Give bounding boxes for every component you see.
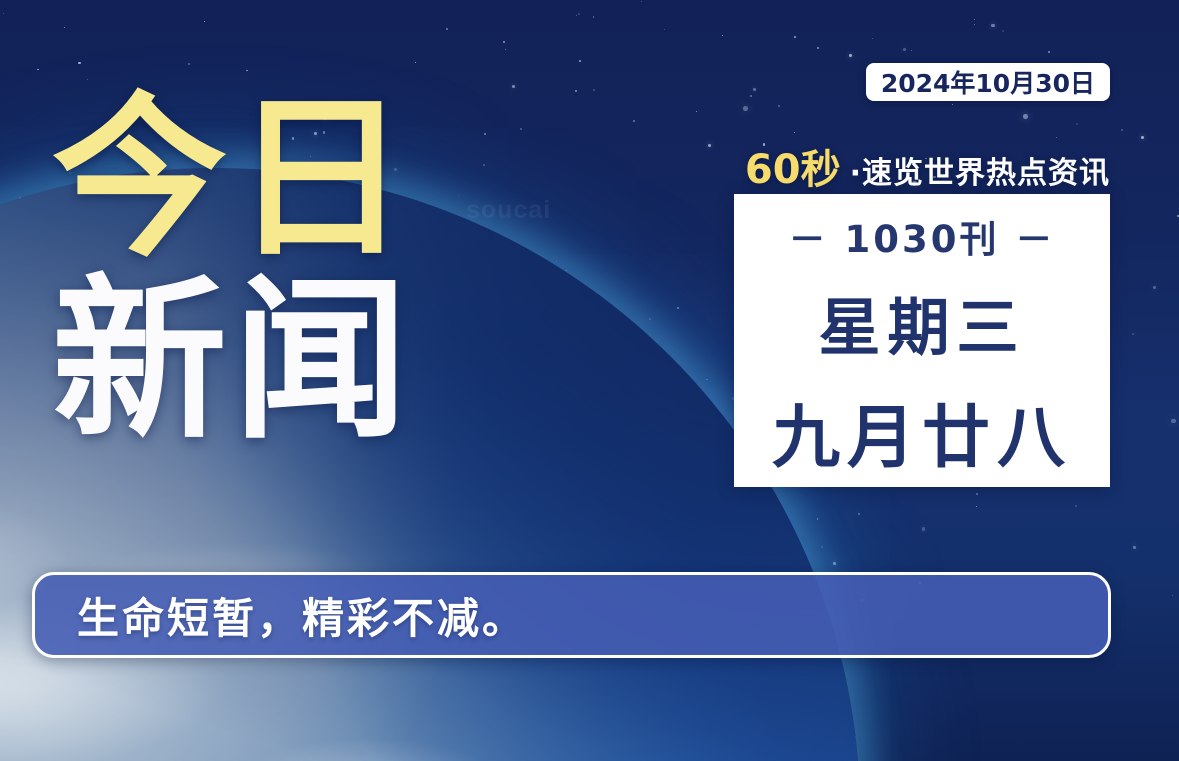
- star-dot: [743, 106, 748, 111]
- star-dot: [1002, 30, 1004, 32]
- star-dot: [974, 19, 975, 20]
- star-dot: [37, 69, 38, 70]
- star-dot: [1023, 114, 1028, 119]
- star-dot: [677, 307, 679, 309]
- star-dot: [1132, 333, 1134, 335]
- star-dot: [1172, 595, 1173, 596]
- star-dot: [778, 105, 780, 107]
- star-dot: [753, 88, 756, 91]
- star-dot: [708, 144, 711, 147]
- star-dot: [458, 195, 459, 196]
- subtitle-duration: 60秒: [745, 137, 841, 195]
- star-dot: [991, 24, 994, 27]
- star-dot: [849, 54, 852, 57]
- issue-number: － 1030刊 －: [789, 209, 1056, 263]
- star-dot: [512, 85, 515, 88]
- star-dot: [706, 379, 707, 380]
- star-dot: [649, 318, 651, 320]
- star-dot: [483, 164, 485, 166]
- star-dot: [1048, 51, 1049, 52]
- star-dot: [1075, 505, 1077, 507]
- star-dot: [633, 120, 635, 122]
- star-dot: [664, 29, 665, 30]
- star-dot: [484, 133, 486, 135]
- subtitle-tagline: ·速览世界热点资讯: [850, 148, 1110, 192]
- star-dot: [974, 24, 975, 25]
- star-dot: [821, 546, 823, 548]
- star-dot: [903, 48, 906, 51]
- news-poster: soucai 今日 新闻 2024年10月30日 60秒 ·速览世界热点资讯 －…: [0, 0, 1179, 761]
- star-dot: [641, 1, 642, 2]
- background-watermark: soucai: [466, 196, 551, 225]
- star-dot: [1153, 286, 1156, 289]
- star-dot: [911, 50, 912, 51]
- star-dot: [415, 62, 416, 63]
- subtitle: 60秒 ·速览世界热点资讯: [745, 137, 1110, 195]
- star-dot: [446, 28, 448, 30]
- star-dot: [505, 49, 506, 50]
- star-dot: [1121, 129, 1123, 131]
- star-dot: [858, 513, 860, 515]
- info-card: － 1030刊 － 星期三 九月廿八: [734, 194, 1110, 487]
- star-dot: [575, 90, 577, 92]
- quote-text: 生命短暂，精彩不减。: [77, 585, 527, 646]
- star-dot: [750, 95, 751, 96]
- quote-bar: 生命短暂，精彩不减。: [32, 572, 1111, 658]
- lunar-date-label: 九月廿八: [772, 382, 1072, 481]
- star-dot: [1171, 419, 1176, 424]
- star-dot: [576, 15, 577, 16]
- star-dot: [503, 41, 505, 43]
- star-dot: [1133, 546, 1136, 549]
- star-dot: [794, 36, 796, 38]
- star-dot: [1141, 136, 1144, 139]
- star-dot: [188, 63, 189, 64]
- star-dot: [922, 527, 925, 530]
- star-dot: [3, 13, 4, 14]
- star-dot: [78, 62, 80, 64]
- star-dot: [1076, 123, 1078, 125]
- title-line-today: 今日: [52, 96, 414, 264]
- star-dot: [817, 47, 819, 49]
- star-dot: [952, 104, 953, 105]
- date-badge: 2024年10月30日: [866, 63, 1110, 101]
- page-title: 今日 新闻: [52, 96, 414, 446]
- star-dot: [976, 506, 977, 507]
- star-dot: [794, 132, 795, 133]
- star-dot: [578, 13, 579, 14]
- star-dot: [722, 35, 723, 36]
- title-line-news: 新闻: [52, 278, 414, 446]
- star-dot: [579, 60, 581, 62]
- star-dot: [976, 493, 978, 495]
- star-dot: [872, 38, 873, 39]
- star-dot: [593, 89, 595, 91]
- star-dot: [817, 518, 818, 519]
- star-dot: [204, 21, 205, 22]
- star-dot: [246, 70, 247, 71]
- star-dot: [556, 261, 557, 262]
- star-dot: [593, 16, 594, 17]
- star-dot: [833, 562, 836, 565]
- weekday-label: 星期三: [818, 277, 1025, 367]
- star-dot: [64, 27, 65, 28]
- star-dot: [520, 128, 522, 130]
- star-dot: [696, 111, 697, 112]
